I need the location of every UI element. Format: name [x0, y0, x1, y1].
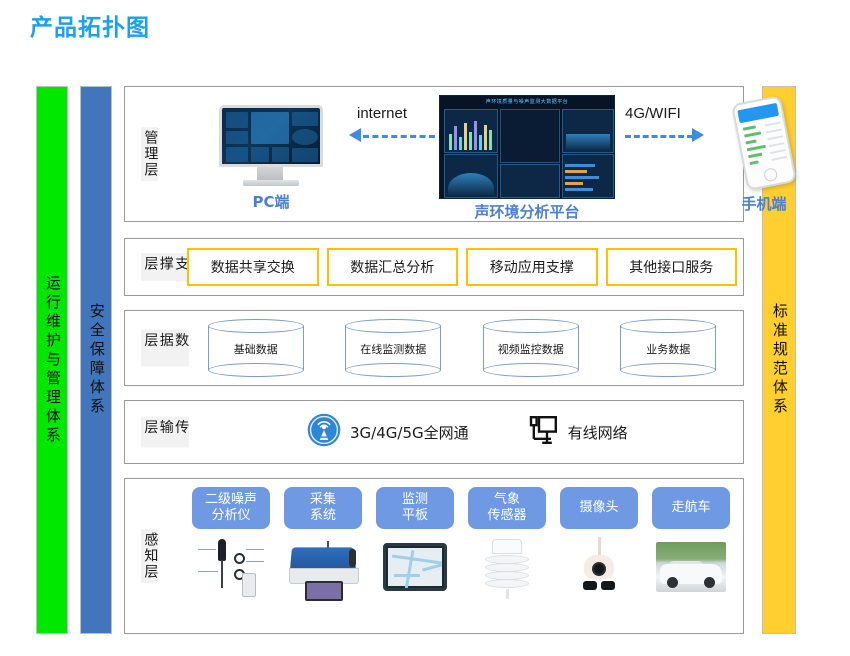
perception-chip-weather-sensor[interactable]: 气象 传感器: [468, 487, 546, 529]
perception-chip-collection-system[interactable]: 采集 系统: [284, 487, 362, 529]
layer-perception-label: 感知层: [141, 529, 158, 583]
database-cylinder-business[interactable]: 业务数据: [620, 319, 716, 377]
chip-line-1: 采集: [310, 492, 336, 507]
perception-chip-survey-vehicle[interactable]: 走航车: [652, 487, 730, 529]
database-label: 视频监控数据: [483, 341, 579, 357]
arrow-right-head-icon: [692, 128, 704, 142]
wireless-antenna-icon: [307, 413, 341, 452]
support-item-data-analysis[interactable]: 数据汇总分析: [327, 248, 459, 286]
transmission-item-wired[interactable]: 有线网络: [527, 414, 628, 451]
dashed-arrow-right-icon: [625, 135, 693, 138]
transmission-wired-label: 有线网络: [568, 422, 628, 443]
chip-line-2: 分析仪: [211, 508, 250, 523]
layer-management: 管理层: [124, 86, 744, 222]
database-label: 业务数据: [620, 341, 716, 357]
support-layer-content: 数据共享交换 数据汇总分析 移动应用支撑 其他接口服务: [187, 239, 737, 295]
chip-line-2: 系统: [310, 508, 336, 523]
chip-line-1: 二级噪声: [205, 492, 257, 507]
layer-data: 数据层 基础数据 在线监测数据 视频监控数据 业务数据: [124, 310, 744, 386]
perception-item-weather-sensor[interactable]: 气象 传感器: [464, 483, 550, 617]
mobile-survey-vehicle-icon: [648, 542, 734, 620]
perception-chip-monitoring-tablet[interactable]: 监测 平板: [376, 487, 454, 529]
node-pc[interactable]: PC端: [211, 101, 331, 212]
database-label: 基础数据: [208, 341, 304, 357]
management-layer-content: PC端 internet 声环境质量与噪声监测大数据平台: [185, 87, 735, 221]
perception-item-noise-analyzer[interactable]: 二级噪声 分析仪: [188, 483, 274, 615]
support-item-other-api[interactable]: 其他接口服务: [606, 248, 738, 286]
collection-system-icon: [280, 541, 366, 619]
arrow-left-head-icon: [349, 128, 361, 142]
topology-diagram: 运行维护与管理体系 安全保障体系 标准规范体系 管理层: [36, 86, 816, 634]
desktop-monitor-icon: [217, 101, 325, 189]
layer-management-label: 管理层: [141, 127, 158, 181]
sidebar-security-label: 安全保障体系: [88, 303, 104, 417]
mobile-phone-icon: [733, 99, 795, 191]
dashed-arrow-left-icon: [363, 135, 435, 138]
node-pc-caption: PC端: [211, 191, 331, 212]
layer-data-label: 数据层: [141, 330, 189, 367]
database-cylinder-video-surveillance[interactable]: 视频监控数据: [483, 319, 579, 377]
sidebar-security-assurance-system: 安全保障体系: [80, 86, 112, 634]
database-label: 在线监测数据: [345, 341, 441, 357]
transmission-item-wireless[interactable]: 3G/4G/5G全网通: [307, 413, 469, 452]
layer-perception: 感知层 二级噪声 分析仪: [124, 478, 744, 634]
chip-line-2: 传感器: [487, 508, 526, 523]
sidebar-standards-label: 标准规范体系: [771, 303, 787, 417]
link-4g-wifi-label: 4G/WIFI: [625, 105, 681, 122]
chip-line-2: 平板: [402, 508, 428, 523]
perception-item-monitoring-tablet[interactable]: 监测 平板: [372, 483, 458, 621]
layer-support-label: 支撑层: [141, 253, 189, 281]
sidebar-ops-management-system: 运行维护与管理体系: [36, 86, 68, 634]
database-cylinder-basic[interactable]: 基础数据: [208, 319, 304, 377]
layer-support: 支撑层 数据共享交换 数据汇总分析 移动应用支撑 其他接口服务: [124, 238, 744, 296]
transmission-layer-content: 3G/4G/5G全网通 有线网络: [187, 401, 737, 463]
layer-transmission: 传输层 3G/4G/5G全网通: [124, 400, 744, 464]
chip-line-1: 监测: [402, 492, 428, 507]
perception-item-survey-vehicle[interactable]: 走航车: [648, 483, 734, 620]
data-layer-content: 基础数据 在线监测数据 视频监控数据 业务数据: [187, 311, 737, 385]
perception-item-collection-system[interactable]: 采集 系统: [280, 483, 366, 619]
node-mobile-caption: 手机端: [709, 193, 819, 214]
dashboard-platform-icon: 声环境质量与噪声监测大数据平台: [439, 95, 615, 199]
perception-item-camera[interactable]: 摄像头: [556, 483, 642, 615]
node-mobile[interactable]: 手机端: [709, 99, 819, 214]
camera-icon: [556, 537, 642, 615]
transmission-wireless-label: 3G/4G/5G全网通: [350, 422, 469, 443]
database-cylinder-online-monitoring[interactable]: 在线监测数据: [345, 319, 441, 377]
link-internet-label: internet: [357, 105, 407, 122]
perception-chip-camera[interactable]: 摄像头: [560, 487, 638, 529]
wired-network-icon: [527, 414, 559, 451]
support-item-data-sharing[interactable]: 数据共享交换: [187, 248, 319, 286]
noise-analyzer-icon: [188, 537, 274, 615]
layer-transmission-label: 传输层: [141, 417, 189, 448]
page-title: 产品拓扑图: [30, 12, 150, 42]
chip-line-1: 摄像头: [579, 500, 618, 516]
perception-layer-content: 二级噪声 分析仪: [185, 483, 737, 629]
node-platform[interactable]: 声环境质量与噪声监测大数据平台: [439, 95, 615, 222]
chip-line-1: 气象: [494, 492, 520, 507]
perception-chip-noise-analyzer[interactable]: 二级噪声 分析仪: [192, 487, 270, 529]
support-item-mobile-app[interactable]: 移动应用支撑: [466, 248, 598, 286]
weather-sensor-icon: [464, 539, 550, 617]
node-platform-caption: 声环境分析平台: [439, 201, 615, 222]
chip-line-1: 走航车: [671, 500, 710, 516]
monitoring-tablet-icon: [372, 543, 458, 621]
sidebar-ops-label: 运行维护与管理体系: [44, 275, 60, 446]
